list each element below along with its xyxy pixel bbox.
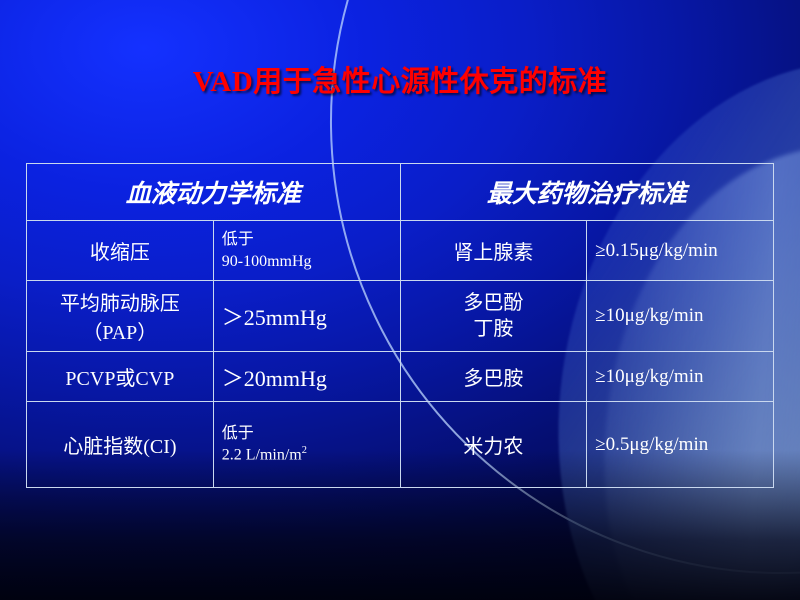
table-row: 心脏指数(CI) 低于 2.2 L/min/m2 米力农 ≥0.5μg/kg/m… [27, 402, 774, 488]
row-0-drug: 肾上腺素 [400, 221, 587, 281]
row-3-value: 低于 2.2 L/min/m2 [213, 402, 400, 488]
row-0-value-line1: 低于 [222, 229, 392, 251]
row-1-drug: 多巴酚 丁胺 [400, 281, 587, 352]
criteria-table: 血液动力学标准 最大药物治疗标准 收缩压 低于 90-100mmHg 肾上腺素 … [26, 163, 774, 488]
row-2-value: ＞20mmHg [213, 352, 400, 402]
row-1-value: ＞25mmHg [213, 281, 400, 352]
slide: VAD用于急性心源性休克的标准 血液动力学标准 最大药物治疗标准 收缩压 低于 … [0, 0, 800, 600]
row-1-drug-line2: 丁胺 [409, 316, 579, 342]
header-hemodynamic: 血液动力学标准 [27, 164, 401, 221]
row-2-dose: ≥10μg/kg/min [587, 352, 774, 402]
table-row: 收缩压 低于 90-100mmHg 肾上腺素 ≥0.15μg/kg/min [27, 221, 774, 281]
row-2-drug: 多巴胺 [400, 352, 587, 402]
row-0-dose: ≥0.15μg/kg/min [587, 221, 774, 281]
row-0-param: 收缩压 [27, 221, 214, 281]
row-0-value: 低于 90-100mmHg [213, 221, 400, 281]
table-header-row: 血液动力学标准 最大药物治疗标准 [27, 164, 774, 221]
row-3-drug: 米力农 [400, 402, 587, 488]
header-pharmacologic: 最大药物治疗标准 [400, 164, 774, 221]
criteria-table-wrapper: 血液动力学标准 最大药物治疗标准 收缩压 低于 90-100mmHg 肾上腺素 … [26, 163, 774, 488]
row-3-value-line2-sup: 2 [302, 445, 307, 456]
table-row: 平均肺动脉压 （PAP） ＞25mmHg 多巴酚 丁胺 ≥10μg/kg/min [27, 281, 774, 352]
row-3-dose: ≥0.5μg/kg/min [587, 402, 774, 488]
row-1-param: 平均肺动脉压 （PAP） [27, 281, 214, 352]
row-3-param: 心脏指数(CI) [27, 402, 214, 488]
table-row: PCVP或CVP ＞20mmHg 多巴胺 ≥10μg/kg/min [27, 352, 774, 402]
row-1-dose: ≥10μg/kg/min [587, 281, 774, 352]
row-3-value-line2: 2.2 L/min/m [222, 447, 302, 464]
row-3-value-line2-wrap: 2.2 L/min/m2 [222, 444, 392, 466]
row-1-param-line1: 平均肺动脉压 [35, 287, 205, 316]
row-0-value-line2: 90-100mmHg [222, 251, 392, 273]
row-2-param: PCVP或CVP [27, 352, 214, 402]
row-3-value-line1: 低于 [222, 423, 392, 445]
row-1-drug-line1: 多巴酚 [409, 290, 579, 316]
row-1-param-line2: （PAP） [35, 316, 205, 345]
slide-title: VAD用于急性心源性休克的标准 [0, 58, 800, 100]
